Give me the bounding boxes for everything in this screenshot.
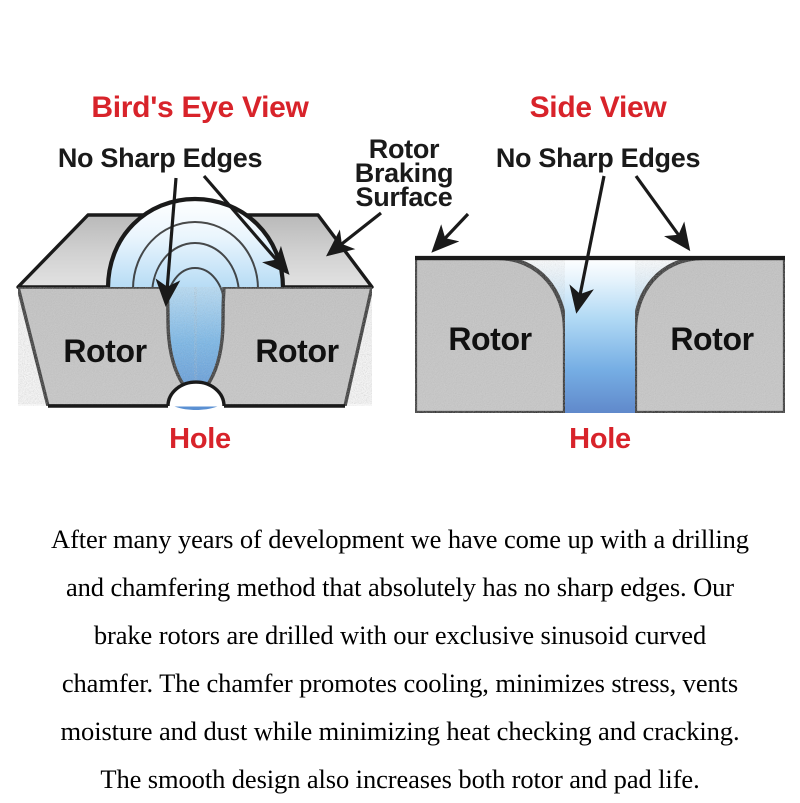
diagram-page: Bird's Eye View No Sharp Edges Rotor Bra… — [0, 0, 800, 800]
side-view-arrow-braking-surface — [434, 214, 468, 250]
description-line-4: chamfer. The chamfer promotes cooling, m… — [8, 659, 792, 707]
side-view-group: Side View No Sharp Edges Rotor Rotor Hol… — [415, 91, 785, 455]
birds-eye-hole-label: Hole — [169, 423, 231, 455]
birds-eye-rotor-block — [18, 199, 372, 410]
description-line-3: brake rotors are drilled with our exclus… — [8, 611, 792, 659]
birds-eye-arrow-braking-surface — [329, 213, 381, 254]
birds-eye-no-sharp-edges-label: No Sharp Edges — [58, 143, 262, 173]
birds-eye-view-title: Bird's Eye View — [91, 91, 309, 124]
side-view-no-sharp-edges-label: No Sharp Edges — [496, 143, 700, 173]
birds-eye-rotor-label-left: Rotor — [63, 333, 146, 369]
side-view-hole-label: Hole — [569, 423, 631, 455]
side-view-rotor-label-left: Rotor — [448, 321, 531, 357]
description-line-6: The smooth design also increases both ro… — [8, 755, 792, 803]
birds-eye-view-group: Bird's Eye View No Sharp Edges Rotor Bra… — [18, 91, 453, 455]
description-paragraph: After many years of development we have … — [0, 515, 800, 803]
rotor-chamfer-illustration: Bird's Eye View No Sharp Edges Rotor Bra… — [0, 0, 800, 500]
diagrams-container: Bird's Eye View No Sharp Edges Rotor Bra… — [0, 0, 800, 500]
description-line-1: After many years of development we have … — [8, 515, 792, 563]
side-view-title: Side View — [530, 91, 668, 124]
description-line-5: moisture and dust while minimizing heat … — [8, 707, 792, 755]
svg-text:Surface: Surface — [356, 182, 453, 212]
rotor-braking-surface-label: Rotor Braking Surface — [355, 134, 453, 212]
side-view-rotor-label-right: Rotor — [670, 321, 753, 357]
side-view-arrow-no-sharp-edges-right — [636, 176, 688, 248]
birds-eye-rotor-label-right: Rotor — [255, 333, 338, 369]
description-line-2: and chamfering method that absolutely ha… — [8, 563, 792, 611]
